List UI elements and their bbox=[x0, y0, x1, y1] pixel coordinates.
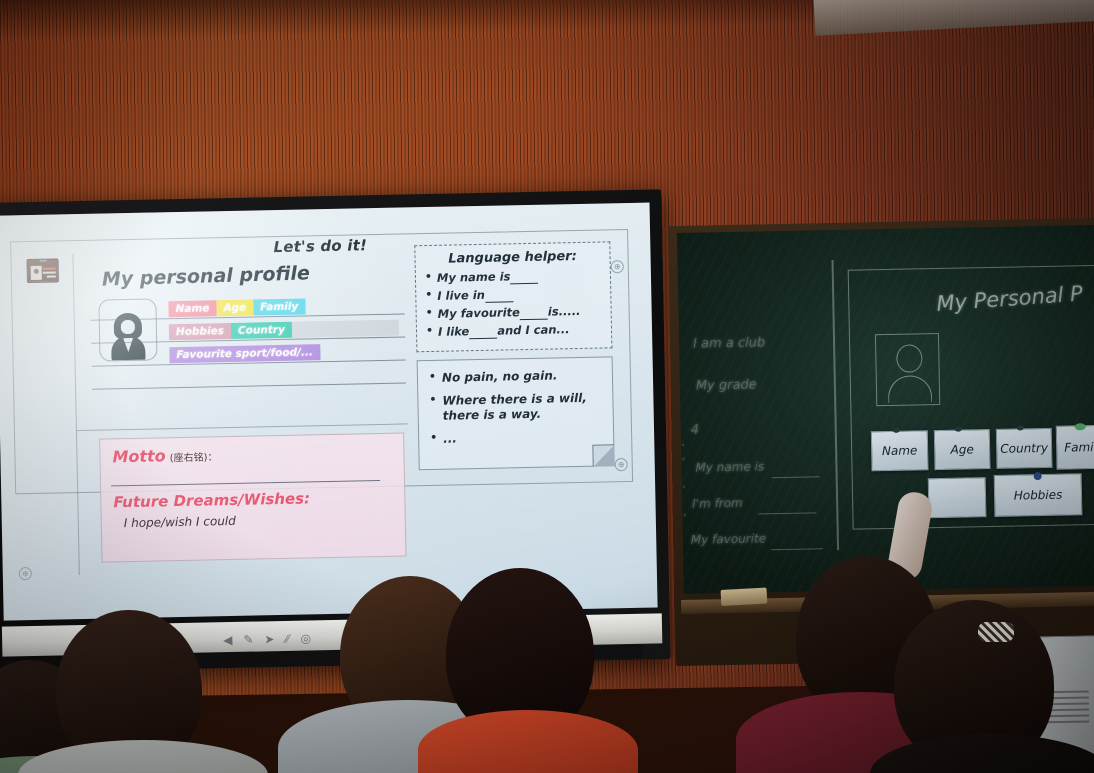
student-4 bbox=[432, 568, 662, 773]
helper-item-1: My name is bbox=[424, 268, 602, 286]
tag-family: Family bbox=[253, 298, 305, 315]
language-helper-title: Language helper: bbox=[423, 249, 601, 268]
tag-row-1: Name Age Family bbox=[168, 296, 398, 318]
chalk-note-6: My favourite bbox=[691, 531, 767, 546]
tag-hobbies: Hobbies bbox=[169, 322, 231, 339]
student-shoulders bbox=[418, 710, 638, 773]
quote-item-2: Where there is a will, there is a way. bbox=[426, 390, 605, 424]
chalkboard-surface[interactable]: My Personal P I am a club My grade 4 My … bbox=[677, 225, 1094, 594]
dreams-subtitle: I hope/wish I could bbox=[124, 514, 236, 530]
chalk-note-3: 4 bbox=[691, 423, 700, 438]
student-6 bbox=[880, 600, 1094, 773]
tag-name: Name bbox=[168, 300, 216, 317]
motto-label: Motto bbox=[112, 446, 166, 466]
tag-age: Age bbox=[216, 299, 253, 316]
classroom-photo: ⊕ ⊕ ⊕ Let's do it! My personal profile bbox=[0, 0, 1094, 773]
helper-column: Language helper: My name is I live in My… bbox=[414, 241, 614, 470]
board-screen[interactable]: ⊕ ⊕ ⊕ Let's do it! My personal profile bbox=[0, 203, 658, 621]
quote-item-3: ... bbox=[427, 428, 605, 447]
id-card-icon bbox=[26, 258, 58, 283]
helper-item-3: My favouriteis..... bbox=[425, 304, 603, 322]
language-helper-box: Language helper: My name is I live in My… bbox=[414, 241, 612, 352]
paper-card-family[interactable]: Family bbox=[1056, 425, 1094, 470]
paper-card-name[interactable]: Name bbox=[871, 430, 929, 471]
paper-card-age[interactable]: Age bbox=[934, 429, 991, 470]
student-shoulders bbox=[18, 740, 268, 773]
tag-favourite: Favourite sport/food/... bbox=[169, 344, 320, 363]
slide-corner-icon-topright: ⊕ bbox=[611, 260, 624, 273]
powerpoint-slide: ⊕ ⊕ ⊕ Let's do it! My personal profile bbox=[10, 229, 637, 586]
tag-country: Country bbox=[231, 321, 292, 338]
motto-section: Motto(座右铭)： Future Dreams/Wishes: I hope… bbox=[77, 423, 411, 567]
pen-icon[interactable]: ✎ bbox=[243, 634, 253, 646]
highlighter-icon[interactable]: ⁄⁄ bbox=[285, 633, 289, 645]
student-2 bbox=[38, 610, 238, 773]
chalk-note-5: I'm from bbox=[692, 496, 743, 511]
tag-row-blank bbox=[170, 365, 400, 387]
slide-corner-icon-bottomleft: ⊕ bbox=[19, 567, 32, 580]
pointer-icon[interactable]: ➤ bbox=[264, 633, 274, 645]
chalk-bullet-marks: ···· bbox=[681, 438, 686, 522]
chalk-note-1: I am a club bbox=[693, 335, 765, 351]
quote-item-1: No pain, no gain. bbox=[426, 367, 604, 386]
chalk-note-2: My grade bbox=[696, 377, 757, 393]
slide-corner-icon-bottomright: ⊕ bbox=[615, 458, 628, 471]
page-curl-icon bbox=[592, 444, 614, 466]
chalk-note-4: My name is bbox=[695, 459, 764, 474]
tag-row-3: Favourite sport/food/... bbox=[169, 342, 399, 364]
helper-item-4: I likeand I can... bbox=[425, 322, 603, 340]
motto-write-line bbox=[111, 480, 380, 486]
hair-clip bbox=[978, 622, 1014, 642]
page-title: My personal profile bbox=[102, 262, 311, 290]
motto-title: Motto(座右铭)： bbox=[112, 445, 217, 466]
student-shoulders bbox=[870, 734, 1094, 773]
paper-card-hidden[interactable] bbox=[928, 477, 987, 518]
tag-row-2: Hobbies Country bbox=[169, 319, 399, 341]
helper-item-2: I live in bbox=[424, 286, 602, 304]
profile-tag-list: Name Age Family Hobbies Country F bbox=[168, 296, 400, 393]
dreams-title: Future Dreams/Wishes: bbox=[113, 489, 310, 511]
paper-card-country[interactable]: Country bbox=[996, 428, 1053, 469]
motto-box: Motto(座右铭)： Future Dreams/Wishes: I hope… bbox=[99, 433, 406, 563]
motto-chinese: (座右铭)： bbox=[170, 452, 218, 464]
quotes-box: No pain, no gain. Where there is a will,… bbox=[417, 356, 615, 470]
person-avatar-icon bbox=[98, 298, 157, 361]
menu-icon[interactable]: ◎ bbox=[300, 632, 311, 644]
chalk-divider bbox=[831, 260, 839, 550]
chalk-eraser[interactable] bbox=[721, 588, 768, 606]
chalk-person-icon bbox=[875, 333, 940, 406]
profile-column: My personal profile Name Age Family bbox=[72, 247, 410, 575]
